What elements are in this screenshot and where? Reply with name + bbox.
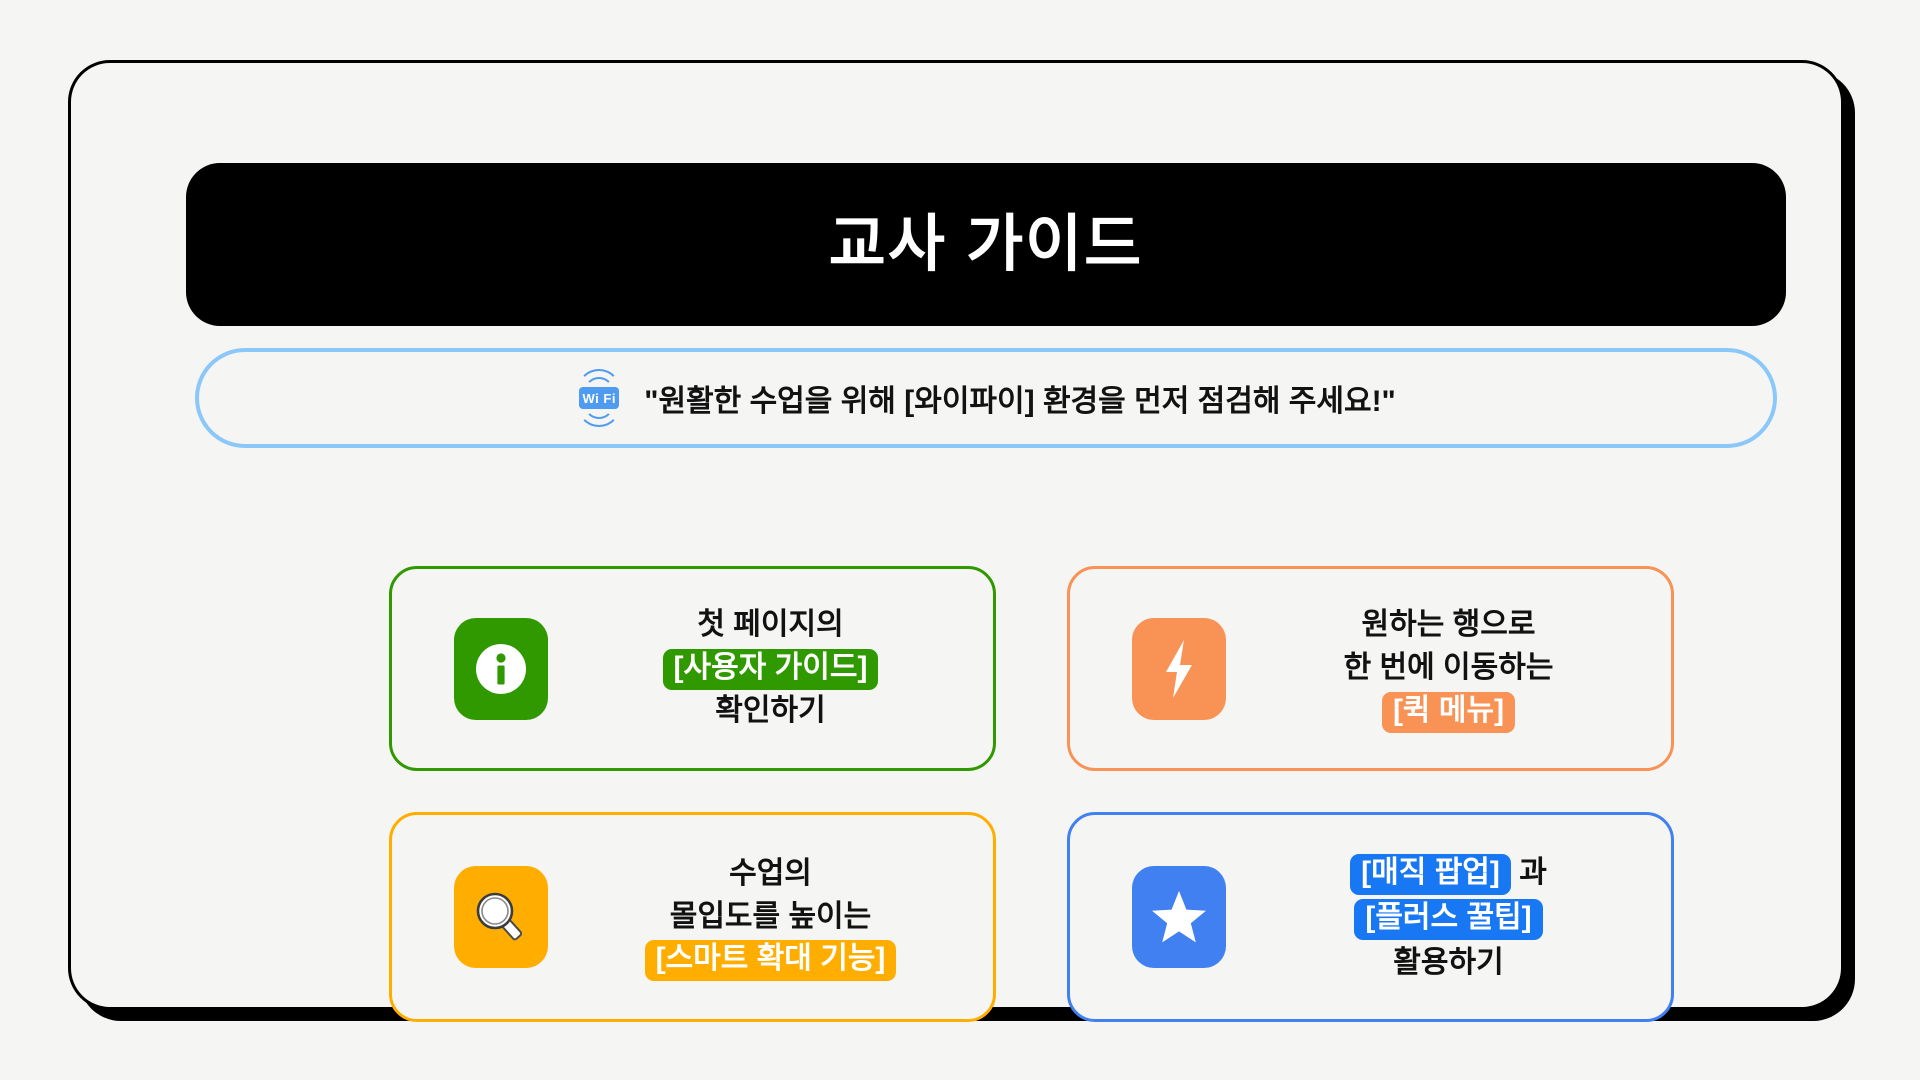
star-icon	[1132, 866, 1226, 968]
wifi-icon: Wi Fi	[576, 373, 622, 423]
card-text-segment: 활용하기	[1393, 946, 1503, 979]
magnifying-glass-icon	[454, 866, 548, 968]
card-line: 한 번에 이동하는	[1266, 647, 1631, 690]
card-line: 첫 페이지의	[588, 604, 953, 647]
title-banner: 교사 가이드	[186, 163, 1786, 326]
wifi-notice-bar: Wi Fi "원활한 수업을 위해 [와이파이] 환경을 먼저 점검해 주세요!…	[195, 348, 1777, 448]
card-line: [사용자 가이드]	[588, 647, 953, 690]
card-text-segment: 한 번에 이동하는	[1344, 651, 1554, 684]
highlight-pill: [스마트 확대 기능]	[645, 940, 897, 981]
card-line: 확인하기	[588, 690, 953, 733]
card-line: [플러스 꿀팁]	[1266, 895, 1631, 940]
guide-card-magic-popup[interactable]: [매직 팝업] 과[플러스 꿀팁]활용하기	[1067, 812, 1674, 1022]
card-line: 원하는 행으로	[1266, 604, 1631, 647]
card-text-segment: 원하는 행으로	[1362, 608, 1536, 641]
card-text-smart-zoom: 수업의몰입도를 높이는[스마트 확대 기능]	[588, 853, 993, 981]
page-title: 교사 가이드	[829, 214, 1143, 276]
info-icon	[454, 618, 548, 720]
card-line: [퀵 메뉴]	[1266, 690, 1631, 733]
card-text-segment: 첫 페이지의	[697, 608, 843, 641]
card-line: 수업의	[588, 853, 953, 896]
guide-card-user-guide[interactable]: 첫 페이지의[사용자 가이드]확인하기	[389, 566, 996, 771]
card-text-segment: 확인하기	[715, 694, 825, 727]
guide-card-grid: 첫 페이지의[사용자 가이드]확인하기 원하는 행으로한 번에 이동하는[퀵 메…	[389, 566, 1674, 1022]
card-text-segment: 몰입도를 높이는	[670, 900, 872, 933]
card-text-quick-menu: 원하는 행으로한 번에 이동하는[퀵 메뉴]	[1266, 604, 1671, 732]
lightning-bolt-icon	[1132, 618, 1226, 720]
card-line: 활용하기	[1266, 940, 1631, 985]
card-line: [매직 팝업] 과	[1266, 850, 1631, 895]
highlight-pill: [플러스 꿀팁]	[1354, 899, 1542, 940]
guide-card-quick-menu[interactable]: 원하는 행으로한 번에 이동하는[퀵 메뉴]	[1067, 566, 1674, 771]
card-text-segment: 수업의	[729, 857, 812, 890]
wifi-notice-text: "원활한 수업을 위해 [와이파이] 환경을 먼저 점검해 주세요!"	[644, 376, 1396, 420]
highlight-pill: [사용자 가이드]	[663, 649, 879, 690]
card-text-user-guide: 첫 페이지의[사용자 가이드]확인하기	[588, 604, 993, 732]
card-text-magic-popup: [매직 팝업] 과[플러스 꿀팁]활용하기	[1266, 850, 1671, 985]
card-text-segment: 과	[1511, 856, 1547, 889]
card-line: 몰입도를 높이는	[588, 896, 953, 939]
highlight-pill: [퀵 메뉴]	[1382, 692, 1515, 733]
wifi-arc-outer-bottom	[577, 383, 621, 427]
card-line: [스마트 확대 기능]	[588, 938, 953, 981]
highlight-pill: [매직 팝업]	[1350, 854, 1511, 895]
guide-frame: 교사 가이드 Wi Fi "원활한 수업을 위해 [와이파이] 환경을 먼저 점…	[68, 60, 1844, 1010]
guide-card-smart-zoom[interactable]: 수업의몰입도를 높이는[스마트 확대 기능]	[389, 812, 996, 1022]
